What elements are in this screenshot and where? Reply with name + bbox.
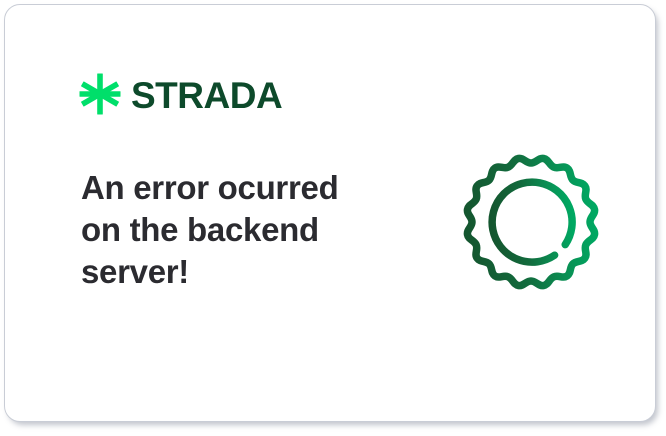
- gear-cog-icon: [455, 145, 607, 307]
- brand-wordmark: STRADA: [131, 77, 282, 114]
- asterisk-star-icon: [79, 73, 121, 115]
- error-card: STRADA An error ocurred on the backend s…: [4, 4, 656, 422]
- error-message-headline: An error ocurred on the backend server!: [81, 167, 381, 293]
- brand-logo: STRADA: [79, 73, 282, 115]
